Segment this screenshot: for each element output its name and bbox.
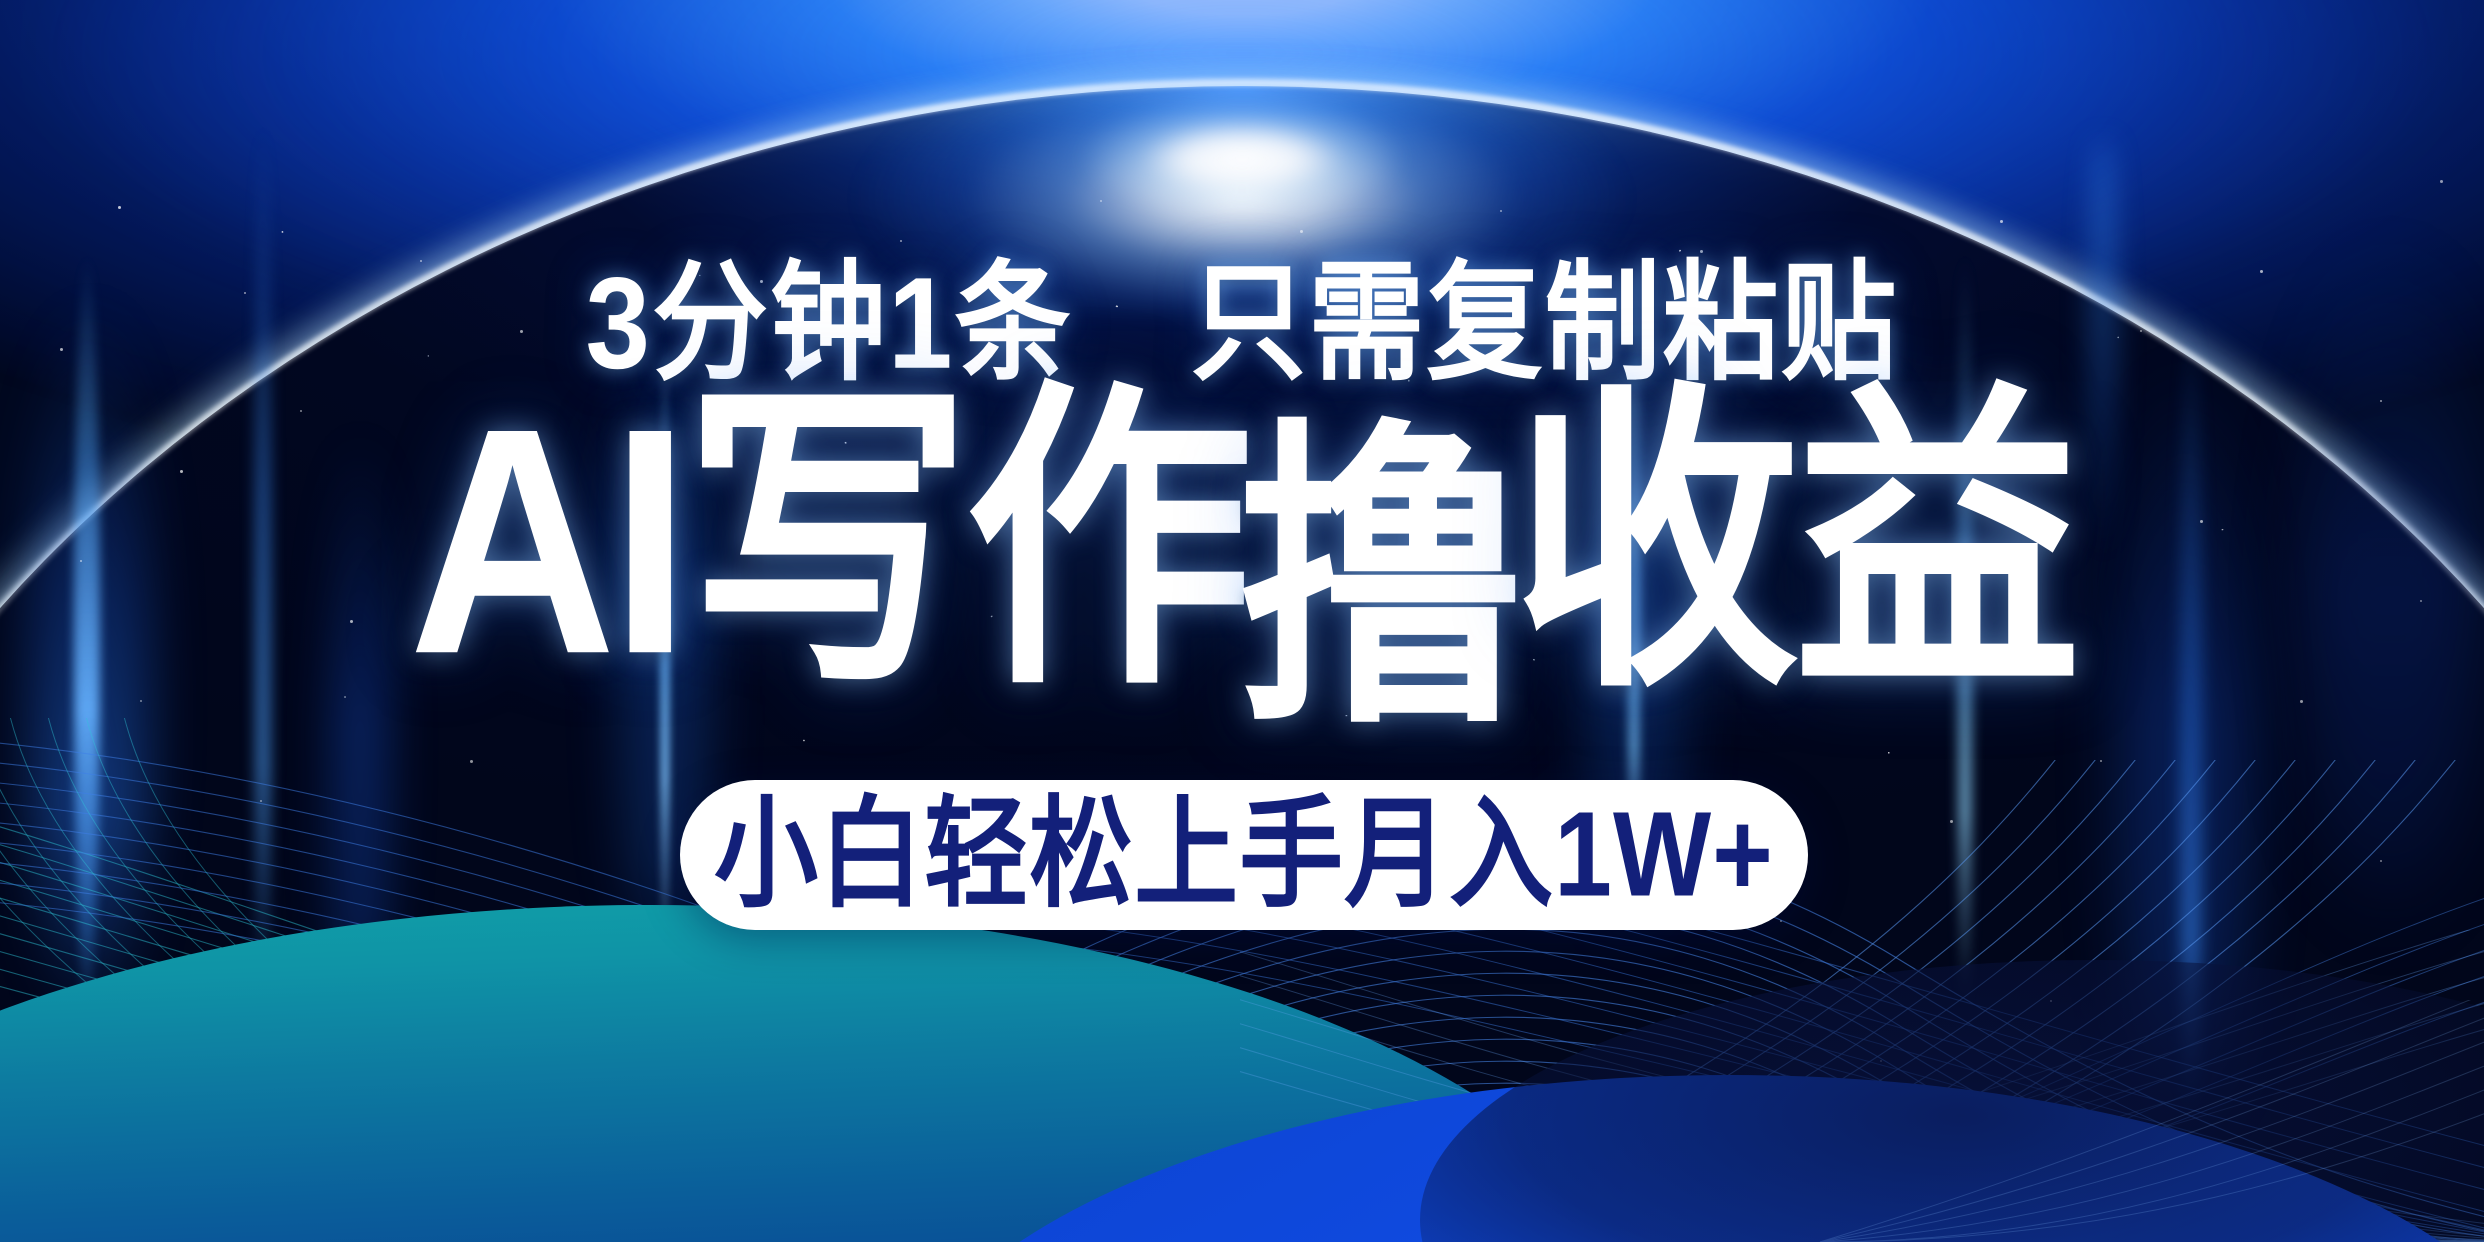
page-title: AI写作撸收益 (0, 390, 2484, 711)
subtitle-pill-label: 小白轻松上手月入1W+ (714, 795, 1774, 916)
subtitle-pill: 小白轻松上手月入1W+ (680, 780, 1808, 930)
headline-segment-2: 撸 (1237, 420, 1519, 741)
headline-segment-3: 收益 (1512, 383, 2075, 704)
headline-segment-1: AI写作 (409, 381, 1247, 702)
poster-canvas: 3分钟1条 只需复制粘贴 AI写作撸收益 小白轻松上手月入1W+ (0, 0, 2484, 1242)
text-layer: 3分钟1条 只需复制粘贴 AI写作撸收益 小白轻松上手月入1W+ (0, 0, 2484, 1242)
